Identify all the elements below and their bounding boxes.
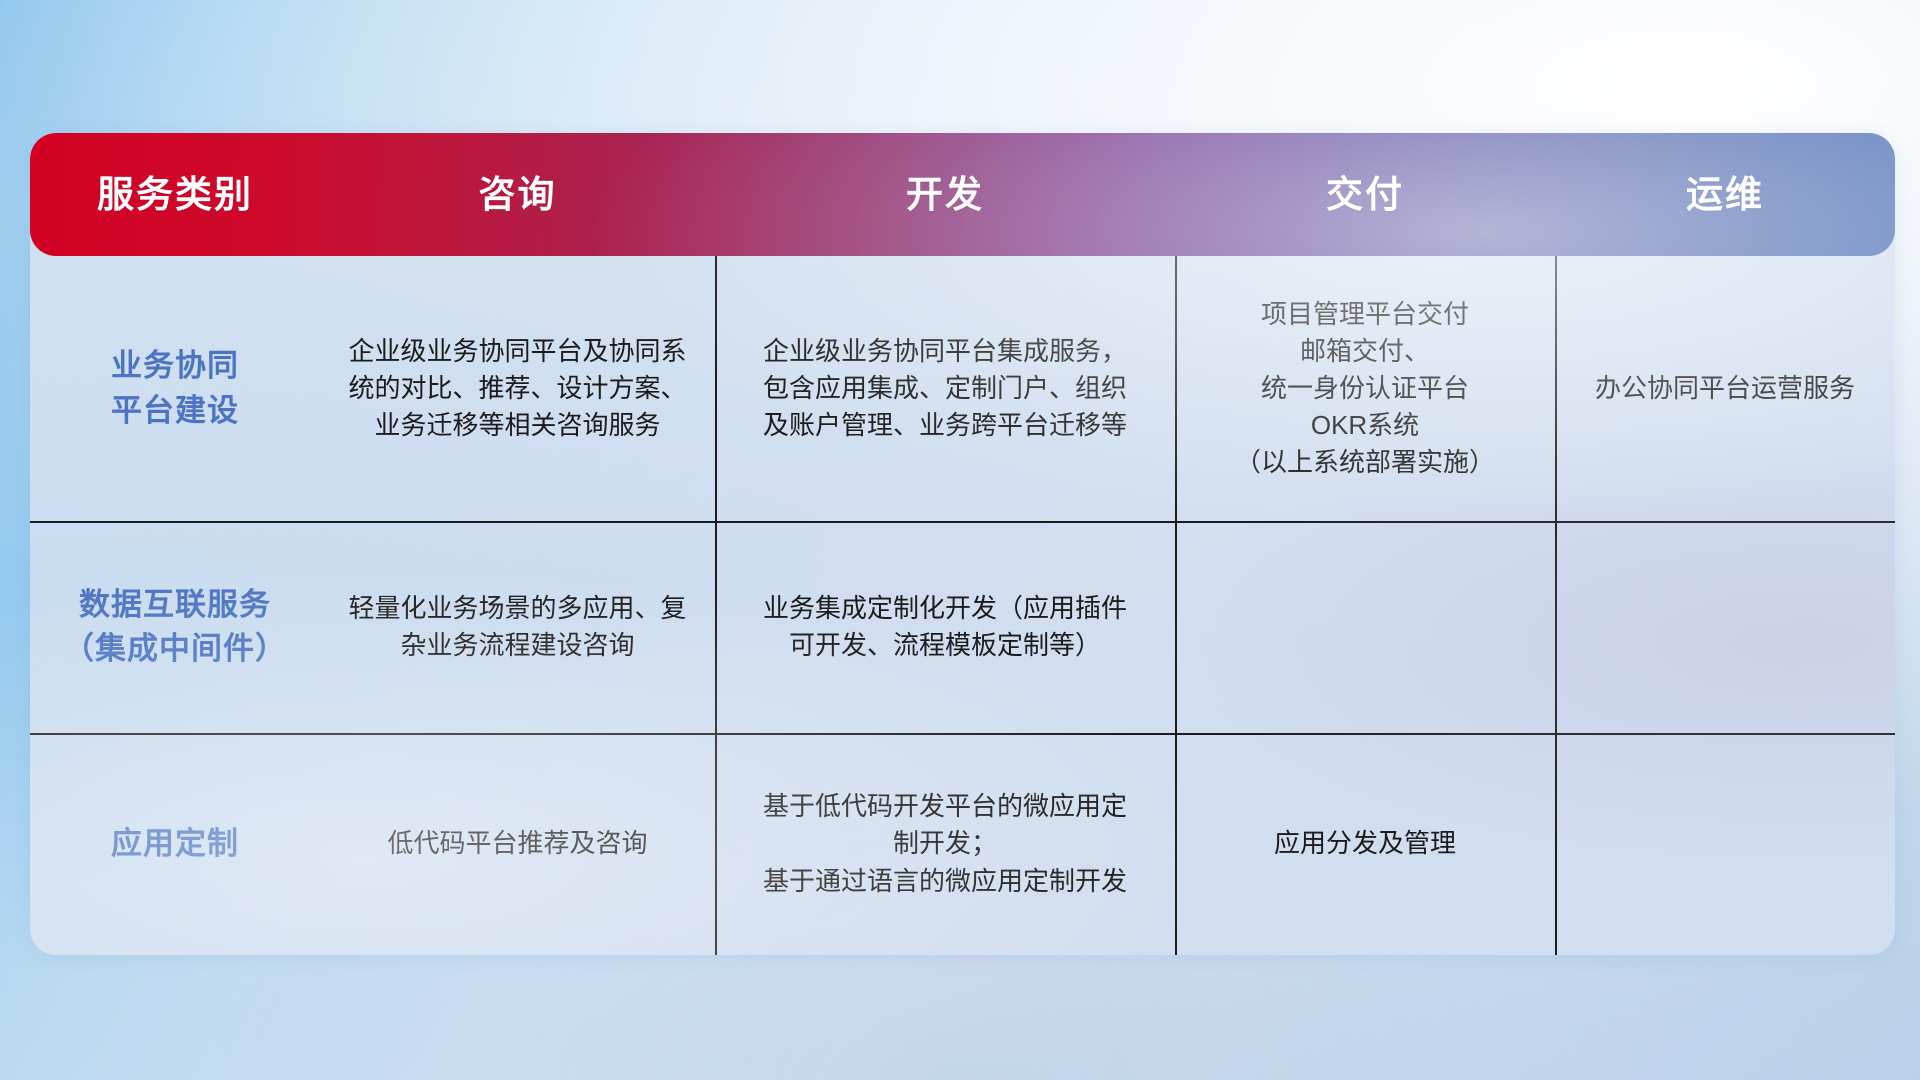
column-header-category: 服务类别 [30,176,320,213]
table-row: 业务协同 平台建设 企业级业务协同平台及协同系 统的对比、推荐、设计方案、 业务… [30,256,1895,521]
column-divider-2 [1175,256,1177,955]
column-header-consulting: 咨询 [320,176,715,213]
row-label: 应用定制 [111,822,239,866]
cell-development: 基于低代码开发平台的微应用定 制开发； 基于通过语言的微应用定制开发 [715,733,1175,955]
row-label-cell: 应用定制 [30,733,320,955]
cell-consulting: 企业级业务协同平台及协同系 统的对比、推荐、设计方案、 业务迁移等相关咨询服务 [320,256,715,521]
cell-text: 业务集成定制化开发（应用插件 可开发、流程模板定制等） [763,590,1127,664]
cell-delivery [1175,521,1555,733]
cell-development: 业务集成定制化开发（应用插件 可开发、流程模板定制等） [715,521,1175,733]
cell-development: 企业级业务协同平台集成服务， 包含应用集成、定制门户、组织 及账户管理、业务跨平… [715,256,1175,521]
column-header-delivery: 交付 [1175,176,1555,213]
row-label: 业务协同 平台建设 [111,344,239,432]
cell-operations [1555,521,1895,733]
cell-text: 基于低代码开发平台的微应用定 制开发； 基于通过语言的微应用定制开发 [763,788,1127,900]
row-divider-2 [30,733,1895,735]
cell-consulting: 轻量化业务场景的多应用、复 杂业务流程建设咨询 [320,521,715,733]
cell-delivery: 应用分发及管理 [1175,733,1555,955]
table-header-row: 服务类别 咨询 开发 交付 运维 [30,133,1895,256]
cell-operations [1555,733,1895,955]
cell-text: 企业级业务协同平台集成服务， 包含应用集成、定制门户、组织 及账户管理、业务跨平… [763,333,1127,445]
service-matrix-card: 服务类别 咨询 开发 交付 运维 业务协同 平台建设 企业级业务协同平台及协同系… [30,133,1895,955]
row-divider-1 [30,521,1895,523]
cell-delivery: 项目管理平台交付 邮箱交付、 统一身份认证平台 OKR系统 （以上系统部署实施） [1175,256,1555,521]
cell-text: 低代码平台推荐及咨询 [387,825,647,862]
cell-text: 轻量化业务场景的多应用、复 杂业务流程建设咨询 [348,590,686,664]
cell-consulting: 低代码平台推荐及咨询 [320,733,715,955]
cell-text: 办公协同平台运营服务 [1595,370,1855,407]
table-body: 业务协同 平台建设 企业级业务协同平台及协同系 统的对比、推荐、设计方案、 业务… [30,256,1895,955]
row-label-cell: 数据互联服务 （集成中间件） [30,521,320,733]
cell-text: 应用分发及管理 [1274,825,1456,862]
column-header-operations: 运维 [1555,176,1895,213]
column-header-development: 开发 [715,176,1175,213]
row-label: 数据互联服务 （集成中间件） [63,583,287,671]
table-row: 数据互联服务 （集成中间件） 轻量化业务场景的多应用、复 杂业务流程建设咨询 业… [30,521,1895,733]
cell-operations: 办公协同平台运营服务 [1555,256,1895,521]
row-label-cell: 业务协同 平台建设 [30,256,320,521]
cell-text: 企业级业务协同平台及协同系 统的对比、推荐、设计方案、 业务迁移等相关咨询服务 [348,333,686,445]
cell-text: 项目管理平台交付 邮箱交付、 统一身份认证平台 OKR系统 （以上系统部署实施） [1235,296,1495,482]
table-row: 应用定制 低代码平台推荐及咨询 基于低代码开发平台的微应用定 制开发； 基于通过… [30,733,1895,955]
column-divider-1 [715,256,717,955]
column-divider-3 [1555,256,1557,955]
